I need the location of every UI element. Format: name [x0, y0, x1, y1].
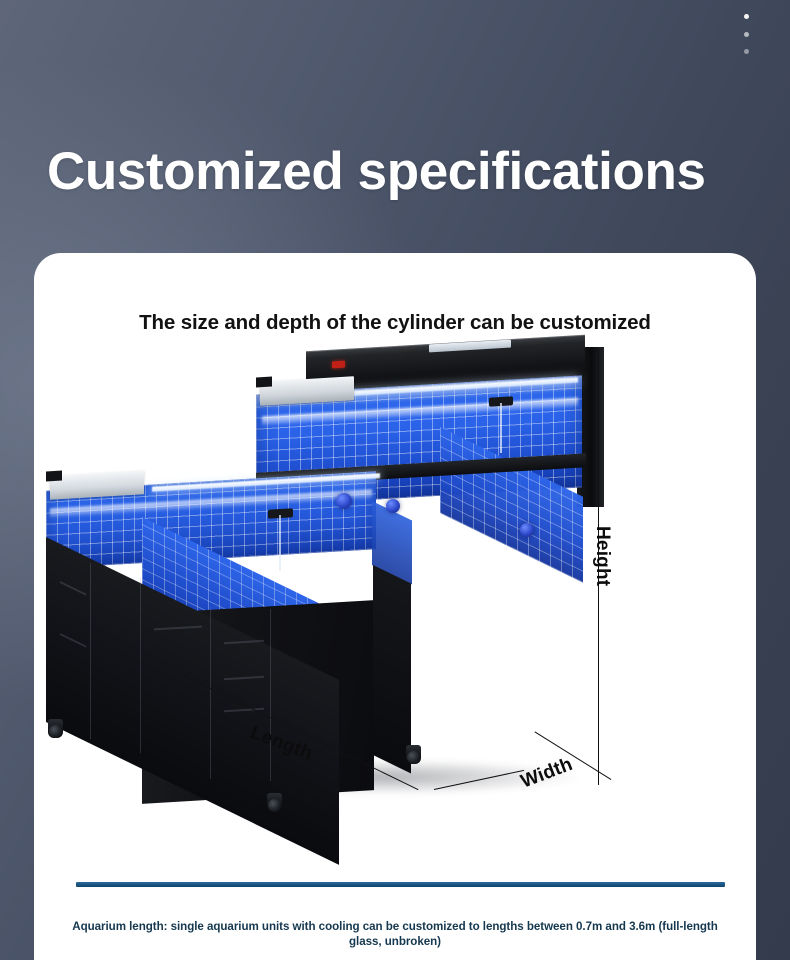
footnote-text: Aquarium length: single aquarium units w… — [62, 919, 728, 950]
caster-wheel-icon — [267, 793, 282, 812]
specifications-card: The size and depth of the cylinder can b… — [34, 253, 756, 960]
kebab-menu-icon[interactable] — [738, 14, 754, 54]
caster-wheel-hub — [268, 799, 281, 812]
cabinet-door-seam — [210, 607, 211, 779]
cabinet-door-seam — [140, 577, 141, 753]
caster-wheel-icon — [48, 719, 63, 738]
circulation-pump-icon — [336, 493, 352, 509]
product-illustration: Height Length Width — [34, 341, 756, 841]
circulation-pump-icon — [520, 523, 534, 537]
page-title: Customized specifications — [47, 143, 706, 200]
temperature-display-icon — [332, 361, 345, 369]
lower-tank-skimmer-cap — [46, 471, 62, 482]
cabinet-door-seam — [90, 563, 91, 739]
dimension-label-height: Height — [591, 526, 613, 586]
aquarium-image — [34, 341, 756, 841]
circulation-pump-icon — [386, 499, 400, 513]
caster-wheel-hub — [407, 751, 420, 764]
upper-tank-paddle-stem — [500, 403, 502, 453]
upper-tank-skimmer-cap — [256, 377, 272, 388]
kebab-dot-middle — [744, 32, 749, 37]
cabinet-right-panel — [373, 565, 411, 774]
card-heading: The size and depth of the cylinder can b… — [34, 311, 756, 335]
page-root: Customized specifications The size and d… — [0, 0, 790, 960]
footer-divider — [76, 882, 725, 887]
lower-tank-paddle-stem — [279, 515, 281, 571]
caster-wheel-icon — [406, 745, 421, 764]
cabinet-door-seam — [270, 609, 271, 781]
kebab-dot-bottom — [744, 49, 749, 54]
kebab-dot-top — [744, 14, 749, 19]
caster-wheel-hub — [49, 725, 62, 738]
